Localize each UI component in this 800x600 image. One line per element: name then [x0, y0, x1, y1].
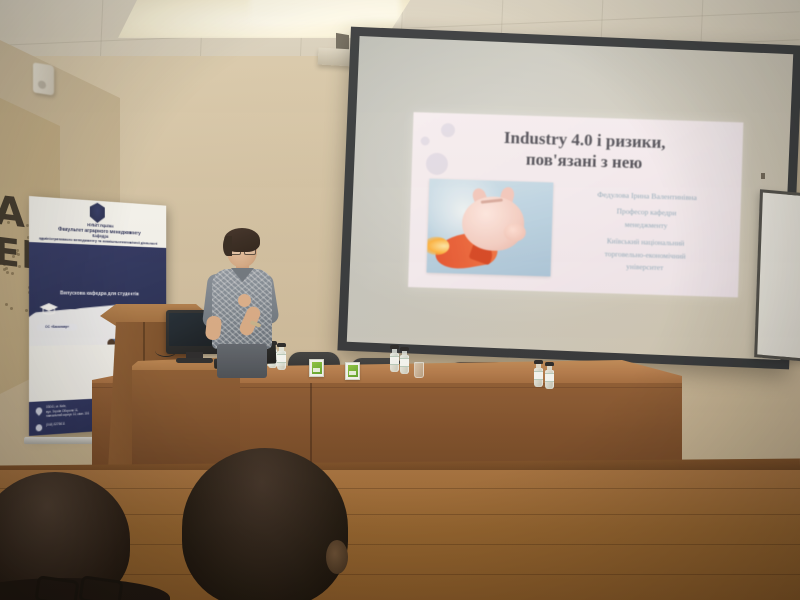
- phone-icon: [36, 424, 43, 431]
- location-pin-icon: [34, 406, 43, 416]
- slide-title: Industry 4.0 і ризики, пов'язані з нею: [434, 125, 735, 177]
- name-tent-card: [309, 359, 324, 377]
- conference-hall-photo: АГІ ЕБЕ НУБіП України Факультет аграрног…: [0, 0, 800, 600]
- drinking-glass: [414, 362, 424, 378]
- ceiling-light-glow: [250, 0, 400, 22]
- audience-eyeglasses-icon: [36, 578, 122, 600]
- presenter-hand: [238, 294, 251, 307]
- university-crest-icon: [90, 202, 105, 223]
- water-bottle: [534, 360, 543, 387]
- tent-card-graphic: [312, 362, 322, 374]
- presentation-slide: Industry 4.0 і ризики, пов'язані з нею Ф…: [408, 112, 743, 297]
- water-bottle: [390, 345, 399, 372]
- audience-head: [182, 448, 348, 600]
- bottle-label: [400, 358, 409, 367]
- water-bottle: [400, 347, 409, 374]
- slide-illustration: [427, 179, 554, 277]
- signage-dot: [10, 307, 13, 310]
- eyeglass-lens: [78, 575, 123, 600]
- banner-header: НУБіП України Факультет аграрного менедж…: [29, 196, 166, 248]
- eyeglass-lens: [34, 575, 79, 600]
- bottle-label: [390, 356, 399, 365]
- banner-ribbon-text: Випускова кафедра для студентів: [35, 290, 162, 297]
- name-tent-card: [345, 362, 360, 380]
- bottle-body: [545, 370, 554, 389]
- tent-card-graphic: [348, 365, 358, 377]
- screen-surface: Industry 4.0 і ризики, пов'язані з нею Ф…: [347, 36, 793, 360]
- whiteboard-wall-hook: [761, 173, 765, 179]
- whiteboard: [754, 189, 800, 362]
- graduation-cap-icon: [39, 302, 60, 315]
- bottle-label: [545, 373, 554, 382]
- audience-ear: [326, 540, 348, 574]
- slide-bubble-decor: [421, 136, 430, 145]
- presenter-hair-side: [223, 236, 232, 256]
- piggy-snout: [504, 223, 527, 242]
- bottle-body: [390, 353, 399, 372]
- wall-speaker-icon: [33, 62, 54, 95]
- banner-phone: (044) 5276611: [46, 422, 65, 428]
- presenter-lower-body: [217, 344, 267, 378]
- signage-dot: [5, 303, 8, 306]
- bottle-label: [534, 371, 543, 380]
- banner-pill-bachelor: ОС «Бакалавр»: [37, 324, 78, 331]
- projection-screen: Industry 4.0 і ризики, пов'язані з нею Ф…: [337, 27, 800, 370]
- presenter: [205, 232, 281, 376]
- signage-dot: [25, 309, 28, 312]
- banner-address: 03041, м. Київ, вул. Героїв Оборони 11, …: [46, 403, 89, 419]
- slide-author-block: Федулова Ірина Валентинівна Професор каф…: [561, 187, 732, 277]
- bottle-body: [400, 355, 409, 374]
- water-bottle: [545, 362, 554, 389]
- bottle-body: [534, 368, 543, 387]
